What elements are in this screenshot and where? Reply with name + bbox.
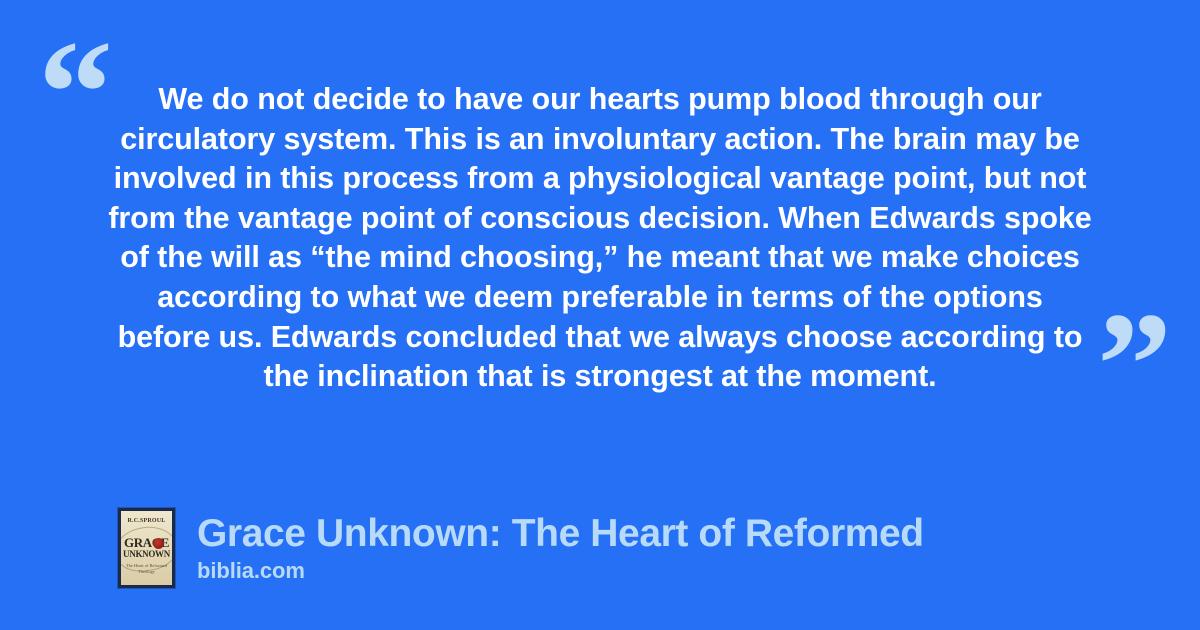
attribution-text: Grace Unknown: The Heart of Reformed bib… — [197, 512, 924, 584]
book-cover-title-line1: GRACE — [121, 537, 172, 549]
book-cover-author: R.C.SPROUL — [121, 518, 172, 524]
book-cover-rose-icon — [153, 538, 164, 549]
quote-block: We do not decide to have our hearts pump… — [108, 80, 1092, 397]
book-cover-title-line2: UNKNOWN — [121, 550, 172, 559]
book-cover-subtitle: The Heart of Reformed Theology — [125, 563, 168, 575]
close-quote-icon: ” — [1097, 290, 1172, 440]
book-title[interactable]: Grace Unknown: The Heart of Reformed — [197, 512, 924, 556]
open-quote-icon: “ — [38, 18, 113, 168]
book-cover-thumbnail[interactable]: R.C.SPROUL GRACE UNKNOWN The Heart of Re… — [118, 508, 175, 588]
site-url[interactable]: biblia.com — [197, 558, 924, 584]
quote-card: “ We do not decide to have our hearts pu… — [0, 0, 1200, 630]
book-cover-art: R.C.SPROUL GRACE UNKNOWN The Heart of Re… — [121, 511, 172, 585]
quote-text: We do not decide to have our hearts pump… — [108, 80, 1092, 397]
attribution-footer: R.C.SPROUL GRACE UNKNOWN The Heart of Re… — [118, 508, 924, 588]
